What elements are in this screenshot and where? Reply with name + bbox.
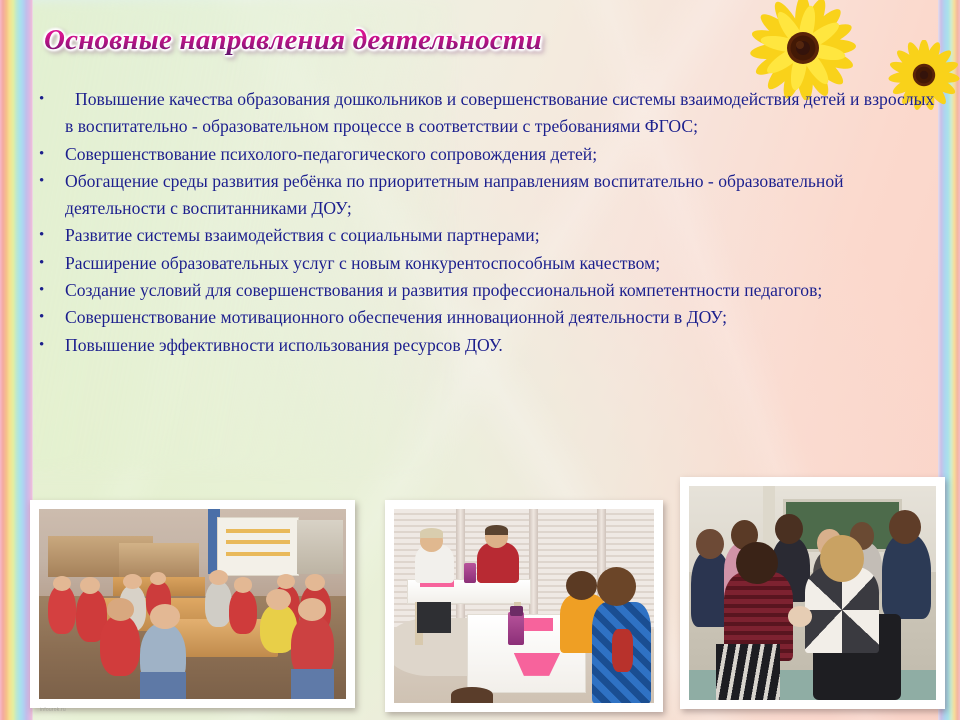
list-item: • Расширение образовательных услуг с нов… [36,250,942,277]
bullet-marker-icon: • [36,304,65,331]
list-item-text: Совершенствование мотивационного обеспеч… [65,304,942,331]
list-item: • Развитие системы взаимодействия с соци… [36,222,942,249]
list-item: • Создание условий для совершенствования… [36,277,942,304]
photo-classroom-children [30,500,355,708]
list-item: • Обогащение среды развития ребёнка по п… [36,168,942,223]
list-item-text: Обогащение среды развития ребёнка по при… [65,168,942,223]
list-item: • Совершенствование психолого-педагогиче… [36,141,942,168]
list-item-text: Повышение качества образования дошкольни… [65,86,942,141]
slide-canvas: Основные направления деятельности [0,0,960,720]
list-item-text: Развитие системы взаимодействия с социал… [65,222,942,249]
bullet-marker-icon: • [36,250,65,277]
sunflower-large-icon [750,0,856,100]
photo-teachers-seminar [680,477,945,709]
list-item: • Повышение качества образования дошколь… [36,86,942,141]
rainbow-stripe-left [0,0,33,720]
list-item: • Совершенствование мотивационного обесп… [36,304,942,331]
bullet-marker-icon: • [36,168,65,195]
list-item-text: Создание условий для совершенствования и… [65,277,942,304]
list-item-text: Совершенствование психолого-педагогическ… [65,141,942,168]
slide-title: Основные направления деятельности [44,24,542,57]
bullet-marker-icon: • [36,141,65,168]
list-item-text: Повышение эффективности использования ре… [65,332,942,359]
bullet-marker-icon: • [36,332,65,359]
bullet-list: • Повышение качества образования дошколь… [36,86,942,359]
bullet-marker-icon: • [36,222,65,249]
list-item: • Повышение эффективности использования … [36,332,942,359]
watermark-text: infourok.ru [40,706,220,714]
bullet-marker-icon: • [36,277,65,304]
bullet-marker-icon: • [36,86,65,113]
photo-children-paper-craft [385,500,663,712]
list-item-text: Расширение образовательных услуг с новым… [65,250,942,277]
slide-title-container: Основные направления деятельности [44,24,542,57]
